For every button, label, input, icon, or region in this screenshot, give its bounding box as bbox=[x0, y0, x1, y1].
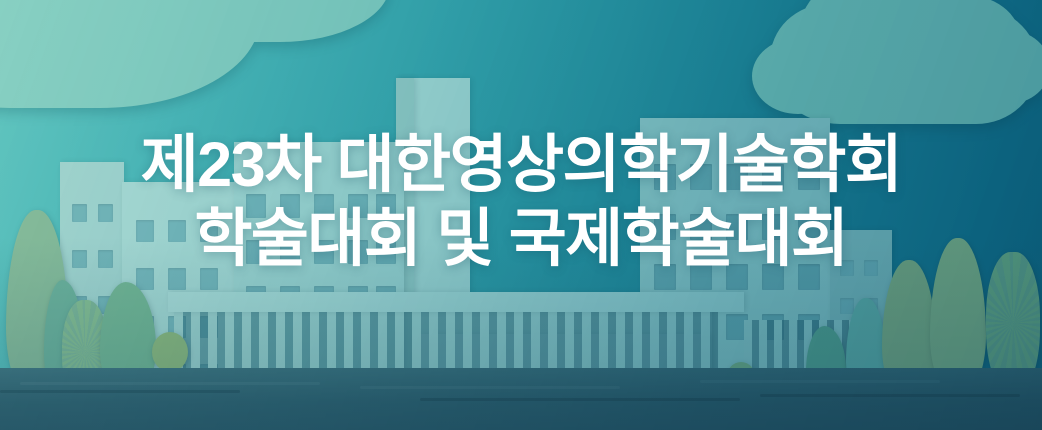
conference-banner: 제23차 대한영상의학기술학회 학술대회 및 국제학술대회 bbox=[0, 0, 1042, 430]
vignette-overlay bbox=[0, 0, 1042, 430]
